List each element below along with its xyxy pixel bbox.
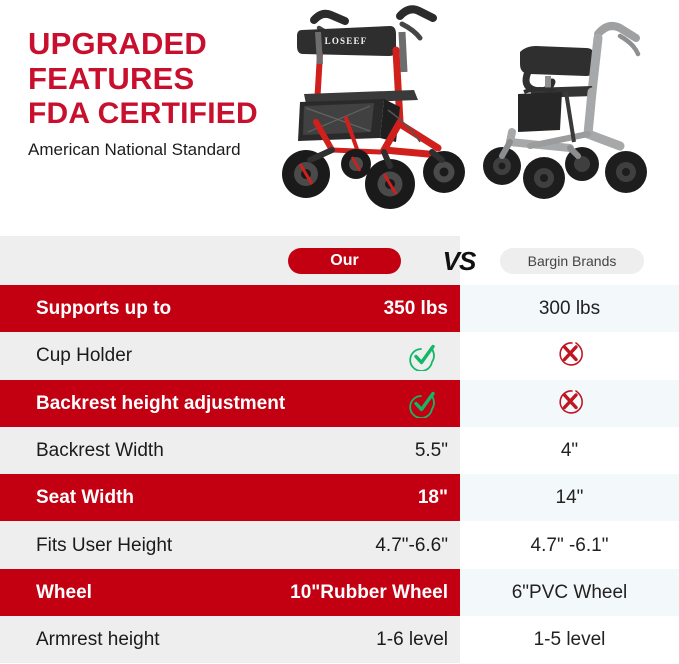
cell-theirs: 300 lbs xyxy=(460,285,679,332)
cell-feature-and-ours: Backrest height adjustment xyxy=(0,380,460,427)
feature-label: Seat Width xyxy=(36,487,134,508)
headline-line-1: UPGRADED xyxy=(28,26,298,61)
comparison-table: Our VS Bargin Brands Supports up to350 l… xyxy=(0,236,679,664)
table-row: Wheel10"Rubber Wheel6"PVC Wheel xyxy=(0,569,679,616)
column-header-ours: Our xyxy=(288,248,401,274)
cell-theirs: 4" xyxy=(460,427,679,474)
cell-theirs: 6"PVC Wheel xyxy=(460,569,679,616)
theirs-value: 6"PVC Wheel xyxy=(512,582,628,603)
cell-feature-and-ours: Armrest height1-6 level xyxy=(0,616,460,663)
table-row: Backrest Width5.5"4" xyxy=(0,427,679,474)
table-row: Armrest height1-6 level1-5 level xyxy=(0,616,679,663)
cell-theirs: 1-5 level xyxy=(460,616,679,663)
table-header-row: Our VS Bargin Brands xyxy=(0,236,679,285)
theirs-value-icon xyxy=(555,386,585,421)
ours-value-icon xyxy=(408,341,438,371)
vs-badge: VS xyxy=(434,245,484,277)
theirs-value: 1-5 level xyxy=(534,629,606,650)
theirs-value: 300 lbs xyxy=(539,298,600,319)
product-image-theirs xyxy=(470,6,660,231)
cross-icon xyxy=(555,338,585,368)
rollator-silver-illustration xyxy=(470,6,660,231)
cell-feature-and-ours: Wheel10"Rubber Wheel xyxy=(0,569,460,616)
feature-label: Cup Holder xyxy=(36,345,132,366)
cell-theirs xyxy=(460,380,679,427)
table-body: Supports up to350 lbs300 lbsCup HolderBa… xyxy=(0,285,679,663)
comparison-infographic: UPGRADED FEATURES FDA CERTIFIED American… xyxy=(0,0,679,664)
check-icon xyxy=(408,388,438,418)
ours-value: 350 lbs xyxy=(384,298,448,319)
ours-value: 18" xyxy=(418,487,448,508)
ours-value: 10"Rubber Wheel xyxy=(290,582,448,603)
ours-value: 1-6 level xyxy=(376,629,448,650)
cell-feature-and-ours: Backrest Width5.5" xyxy=(0,427,460,474)
table-row: Fits User Height4.7"-6.6"4.7" -6.1" xyxy=(0,521,679,568)
headline-line-2: FEATURES xyxy=(28,61,298,96)
headline-line-3: FDA CERTIFIED xyxy=(28,96,298,131)
cell-feature-and-ours: Cup Holder xyxy=(0,332,460,379)
table-row: Seat Width18"14" xyxy=(0,474,679,521)
hero-copy: UPGRADED FEATURES FDA CERTIFIED American… xyxy=(28,26,298,160)
feature-label: Fits User Height xyxy=(36,535,172,556)
hero-section: UPGRADED FEATURES FDA CERTIFIED American… xyxy=(0,0,679,236)
feature-label: Armrest height xyxy=(36,629,160,650)
ours-value: 5.5" xyxy=(415,440,448,461)
hero-subheadline: American National Standard xyxy=(28,140,298,160)
feature-label: Wheel xyxy=(36,582,92,603)
theirs-value: 14" xyxy=(556,487,584,508)
column-header-theirs: Bargin Brands xyxy=(500,248,644,274)
table-row: Backrest height adjustment xyxy=(0,380,679,427)
cell-feature-and-ours: Supports up to350 lbs xyxy=(0,285,460,332)
table-row: Cup Holder xyxy=(0,332,679,379)
theirs-value: 4.7" -6.1" xyxy=(531,535,609,556)
theirs-value-icon xyxy=(555,338,585,373)
product-brand-text: LOSEEF xyxy=(325,36,368,46)
cross-icon xyxy=(555,386,585,416)
ours-value: 4.7"-6.6" xyxy=(375,535,448,556)
cell-feature-and-ours: Seat Width18" xyxy=(0,474,460,521)
ours-value-icon xyxy=(408,388,438,418)
cell-theirs: 4.7" -6.1" xyxy=(460,521,679,568)
cell-feature-and-ours: Fits User Height4.7"-6.6" xyxy=(0,521,460,568)
feature-label: Supports up to xyxy=(36,298,171,319)
feature-label: Backrest Width xyxy=(36,440,164,461)
product-image-ours: LOSEEF xyxy=(272,2,482,232)
rollator-red-illustration: LOSEEF xyxy=(272,2,482,232)
cell-theirs xyxy=(460,332,679,379)
cell-theirs: 14" xyxy=(460,474,679,521)
table-row: Supports up to350 lbs300 lbs xyxy=(0,285,679,332)
feature-label: Backrest height adjustment xyxy=(36,393,285,414)
check-icon xyxy=(408,341,438,371)
theirs-value: 4" xyxy=(561,440,578,461)
